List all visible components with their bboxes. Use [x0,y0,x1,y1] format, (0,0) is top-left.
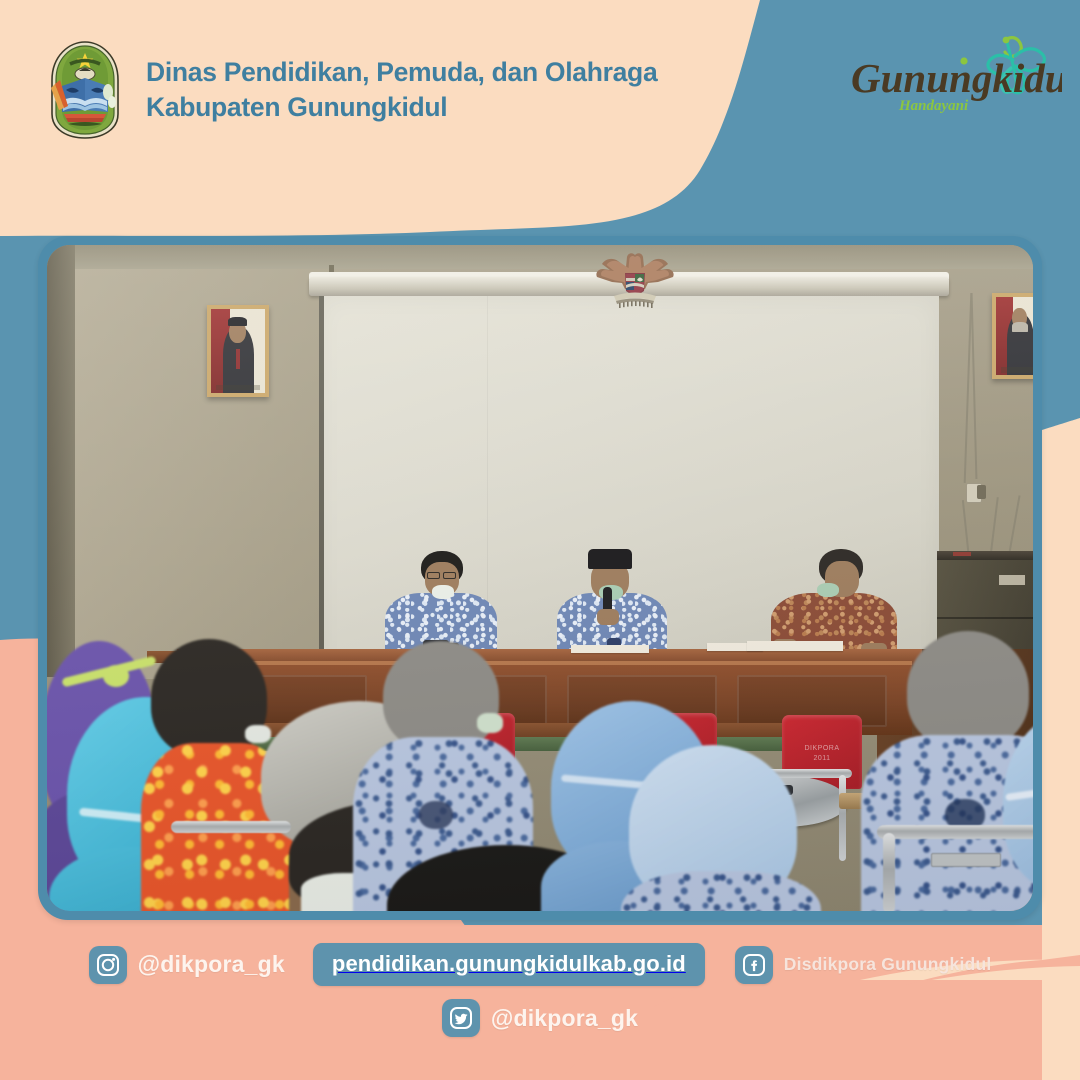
speaker-right-mask [817,583,839,597]
portrait-nameplate [216,385,259,391]
twitter-handle[interactable]: @dikpora_gk [491,1005,638,1032]
audience-member [1003,711,1033,911]
speaker-center-peci-cap [588,549,632,569]
presidential-portrait [207,305,269,397]
audience-member [629,745,819,911]
twitter-glyph [448,1005,474,1031]
speaker-center-hand [597,609,619,625]
gunungkidul-brand-logo: Gunungkidul Handayani [847,30,1062,140]
page-header: Dinas Pendidikan, Pemuda, dan Olahraga K… [0,0,760,180]
audience-light-hijab [1003,711,1033,891]
page-title-line-1: Dinas Pendidikan, Pemuda, dan Olahraga [146,55,657,90]
gunungkidul-regency-crest-icon [46,40,124,140]
instagram-glyph [95,952,121,978]
chair-frame [877,825,1033,839]
audience-mask-strap [477,713,503,733]
portrait-nameplate [1001,367,1033,372]
brand-tagline-text: Handayani [898,98,969,114]
document-on-table [571,645,649,653]
twitter-icon[interactable] [442,999,480,1037]
cabinet-top [937,551,1033,560]
document-on-table [747,641,843,651]
brand-wordmark-text: Gunungkidul [851,55,1062,101]
background-peach-right-rect [1042,430,1080,965]
footer-social-bar: @dikpora_gk pendidikan.gunungkidulkab.go… [0,930,1080,1080]
portrait-necktie [236,349,240,369]
left-wall-panel [75,269,331,679]
page-title-line-2: Kabupaten Gunungkidul [146,90,657,125]
website-url: pendidikan.gunungkidulkab.go.id [332,951,686,976]
footer-row-twitter: @dikpora_gk [0,999,1080,1037]
cabinet-object [953,552,971,556]
garuda-pancasila-emblem-icon [592,249,678,311]
cabinet-seam [937,617,1033,619]
facebook-glyph [741,952,767,978]
speaker-left-glasses [443,572,456,579]
event-photo: DIKPORA 2011 DIKPORA 2011 [47,245,1033,911]
room-ceiling [47,245,1033,269]
event-photo-frame: DIKPORA 2011 DIKPORA 2011 [38,236,1042,920]
instagram-handle[interactable]: @dikpora_gk [138,951,285,978]
wall-plug [977,485,986,499]
audience-hair [383,641,499,751]
chair-frame [171,821,291,833]
instagram-icon[interactable] [89,946,127,984]
uniform-emblem [419,801,453,829]
chair-plate [931,853,1001,867]
portrait-songkok-cap [228,317,246,326]
cabinet-label [999,575,1025,585]
website-link-pill[interactable]: pendidikan.gunungkidulkab.go.id [313,943,705,986]
left-wall-shadow [47,245,75,677]
portrait-cap [1012,322,1028,332]
speaker-left-mask [432,585,454,599]
facebook-icon[interactable] [735,946,773,984]
chair-frame [883,833,895,911]
projector-screen-edge [319,296,324,688]
footer-row-primary: @dikpora_gk pendidikan.gunungkidulkab.go… [0,943,1080,986]
chair-frame-leg [839,775,846,861]
facebook-group: Disdikpora Gunungkidul [735,946,992,984]
speaker-left-glasses [427,572,440,579]
header-title-block: Dinas Pendidikan, Pemuda, dan Olahraga K… [146,55,657,125]
facebook-page-name[interactable]: Disdikpora Gunungkidul [784,954,992,975]
vice-presidential-portrait [992,293,1033,379]
